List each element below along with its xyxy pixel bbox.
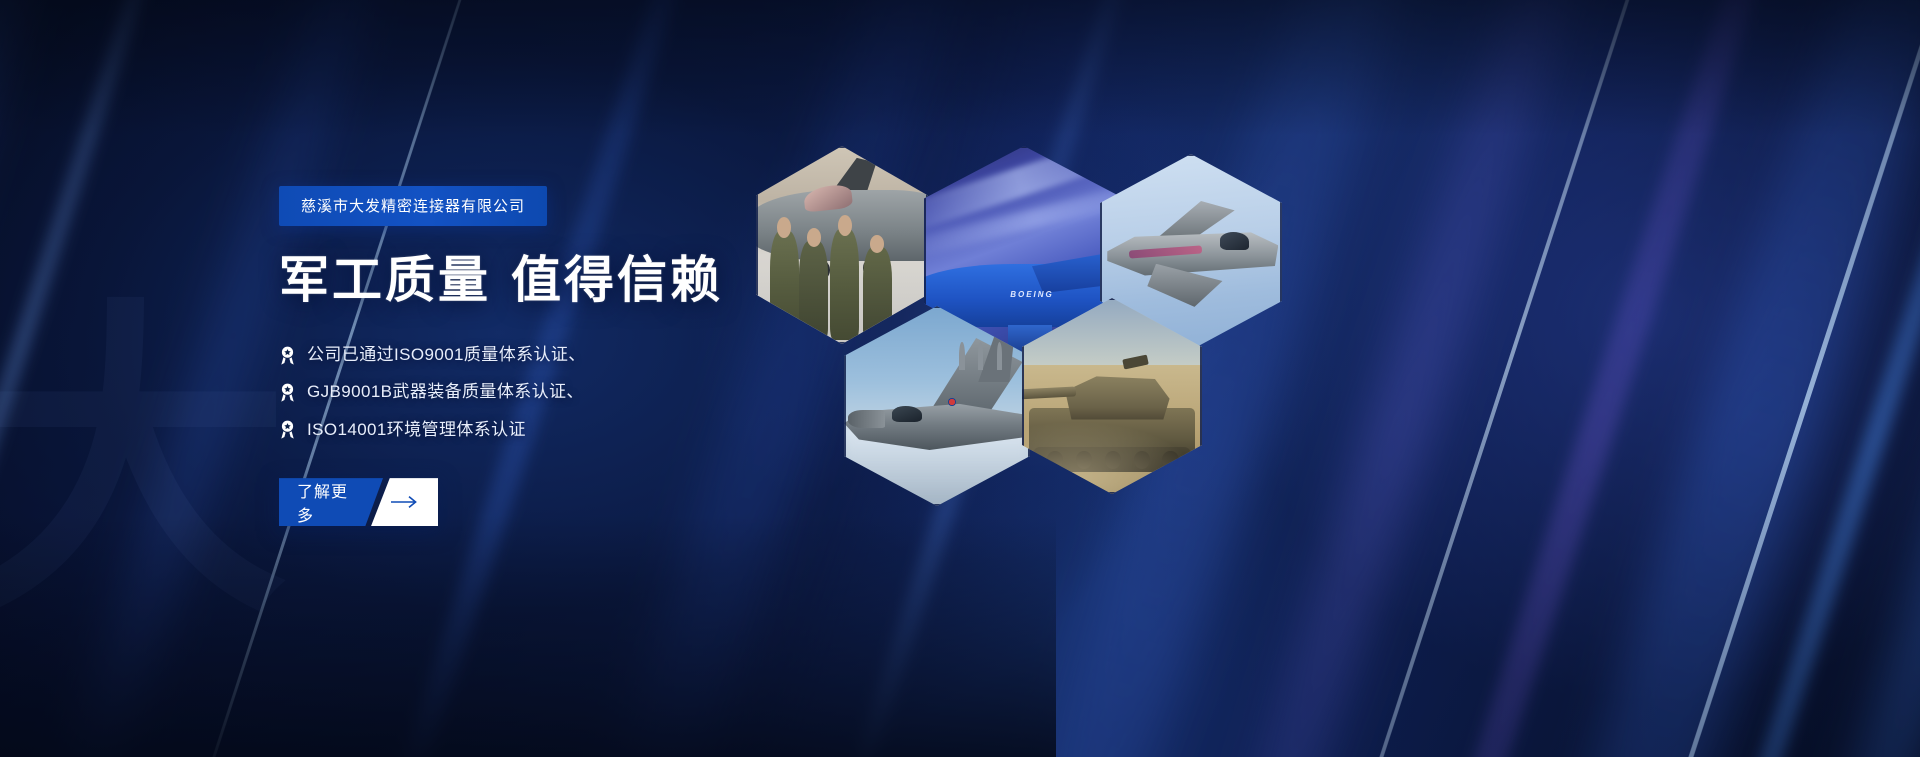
learn-more-button[interactable]: 了解更多 [279,478,438,526]
list-item-label: ISO14001环境管理体系认证 [307,420,526,440]
headline-part-1: 军工质量 [279,252,491,308]
list-item: ISO14001环境管理体系认证 [279,420,979,440]
list-item-label: GJB9001B武器装备质量体系认证、 [307,382,584,402]
top-vignette [0,0,1920,136]
hero-banner: 大 慈溪市大发精密连接器有限公司 军工质量值得信赖 公司已通过ISO9001质量… [0,0,1920,757]
medal-icon [279,383,296,402]
medal-icon [279,420,296,439]
learn-more-arrow[interactable] [371,478,438,526]
certification-list: 公司已通过ISO9001质量体系认证、 GJB9001B武器装备质量体系认证、 [279,345,979,440]
hero-content: 慈溪市大发精密连接器有限公司 军工质量值得信赖 公司已通过ISO9001质量体系… [279,186,979,526]
boeing-logo-text: BOEING [988,285,1076,304]
list-item: 公司已通过ISO9001质量体系认证、 [279,345,979,365]
medal-icon [279,346,296,365]
list-item: GJB9001B武器装备质量体系认证、 [279,382,979,402]
company-name-badge: 慈溪市大发精密连接器有限公司 [279,186,547,226]
arrow-right-icon [390,495,420,509]
headline-part-2: 值得信赖 [511,252,723,308]
learn-more-label[interactable]: 了解更多 [279,478,383,526]
page-title: 军工质量值得信赖 [279,252,979,309]
list-item-label: 公司已通过ISO9001质量体系认证、 [307,345,586,365]
ghost-glyph: 大 [0,300,302,630]
